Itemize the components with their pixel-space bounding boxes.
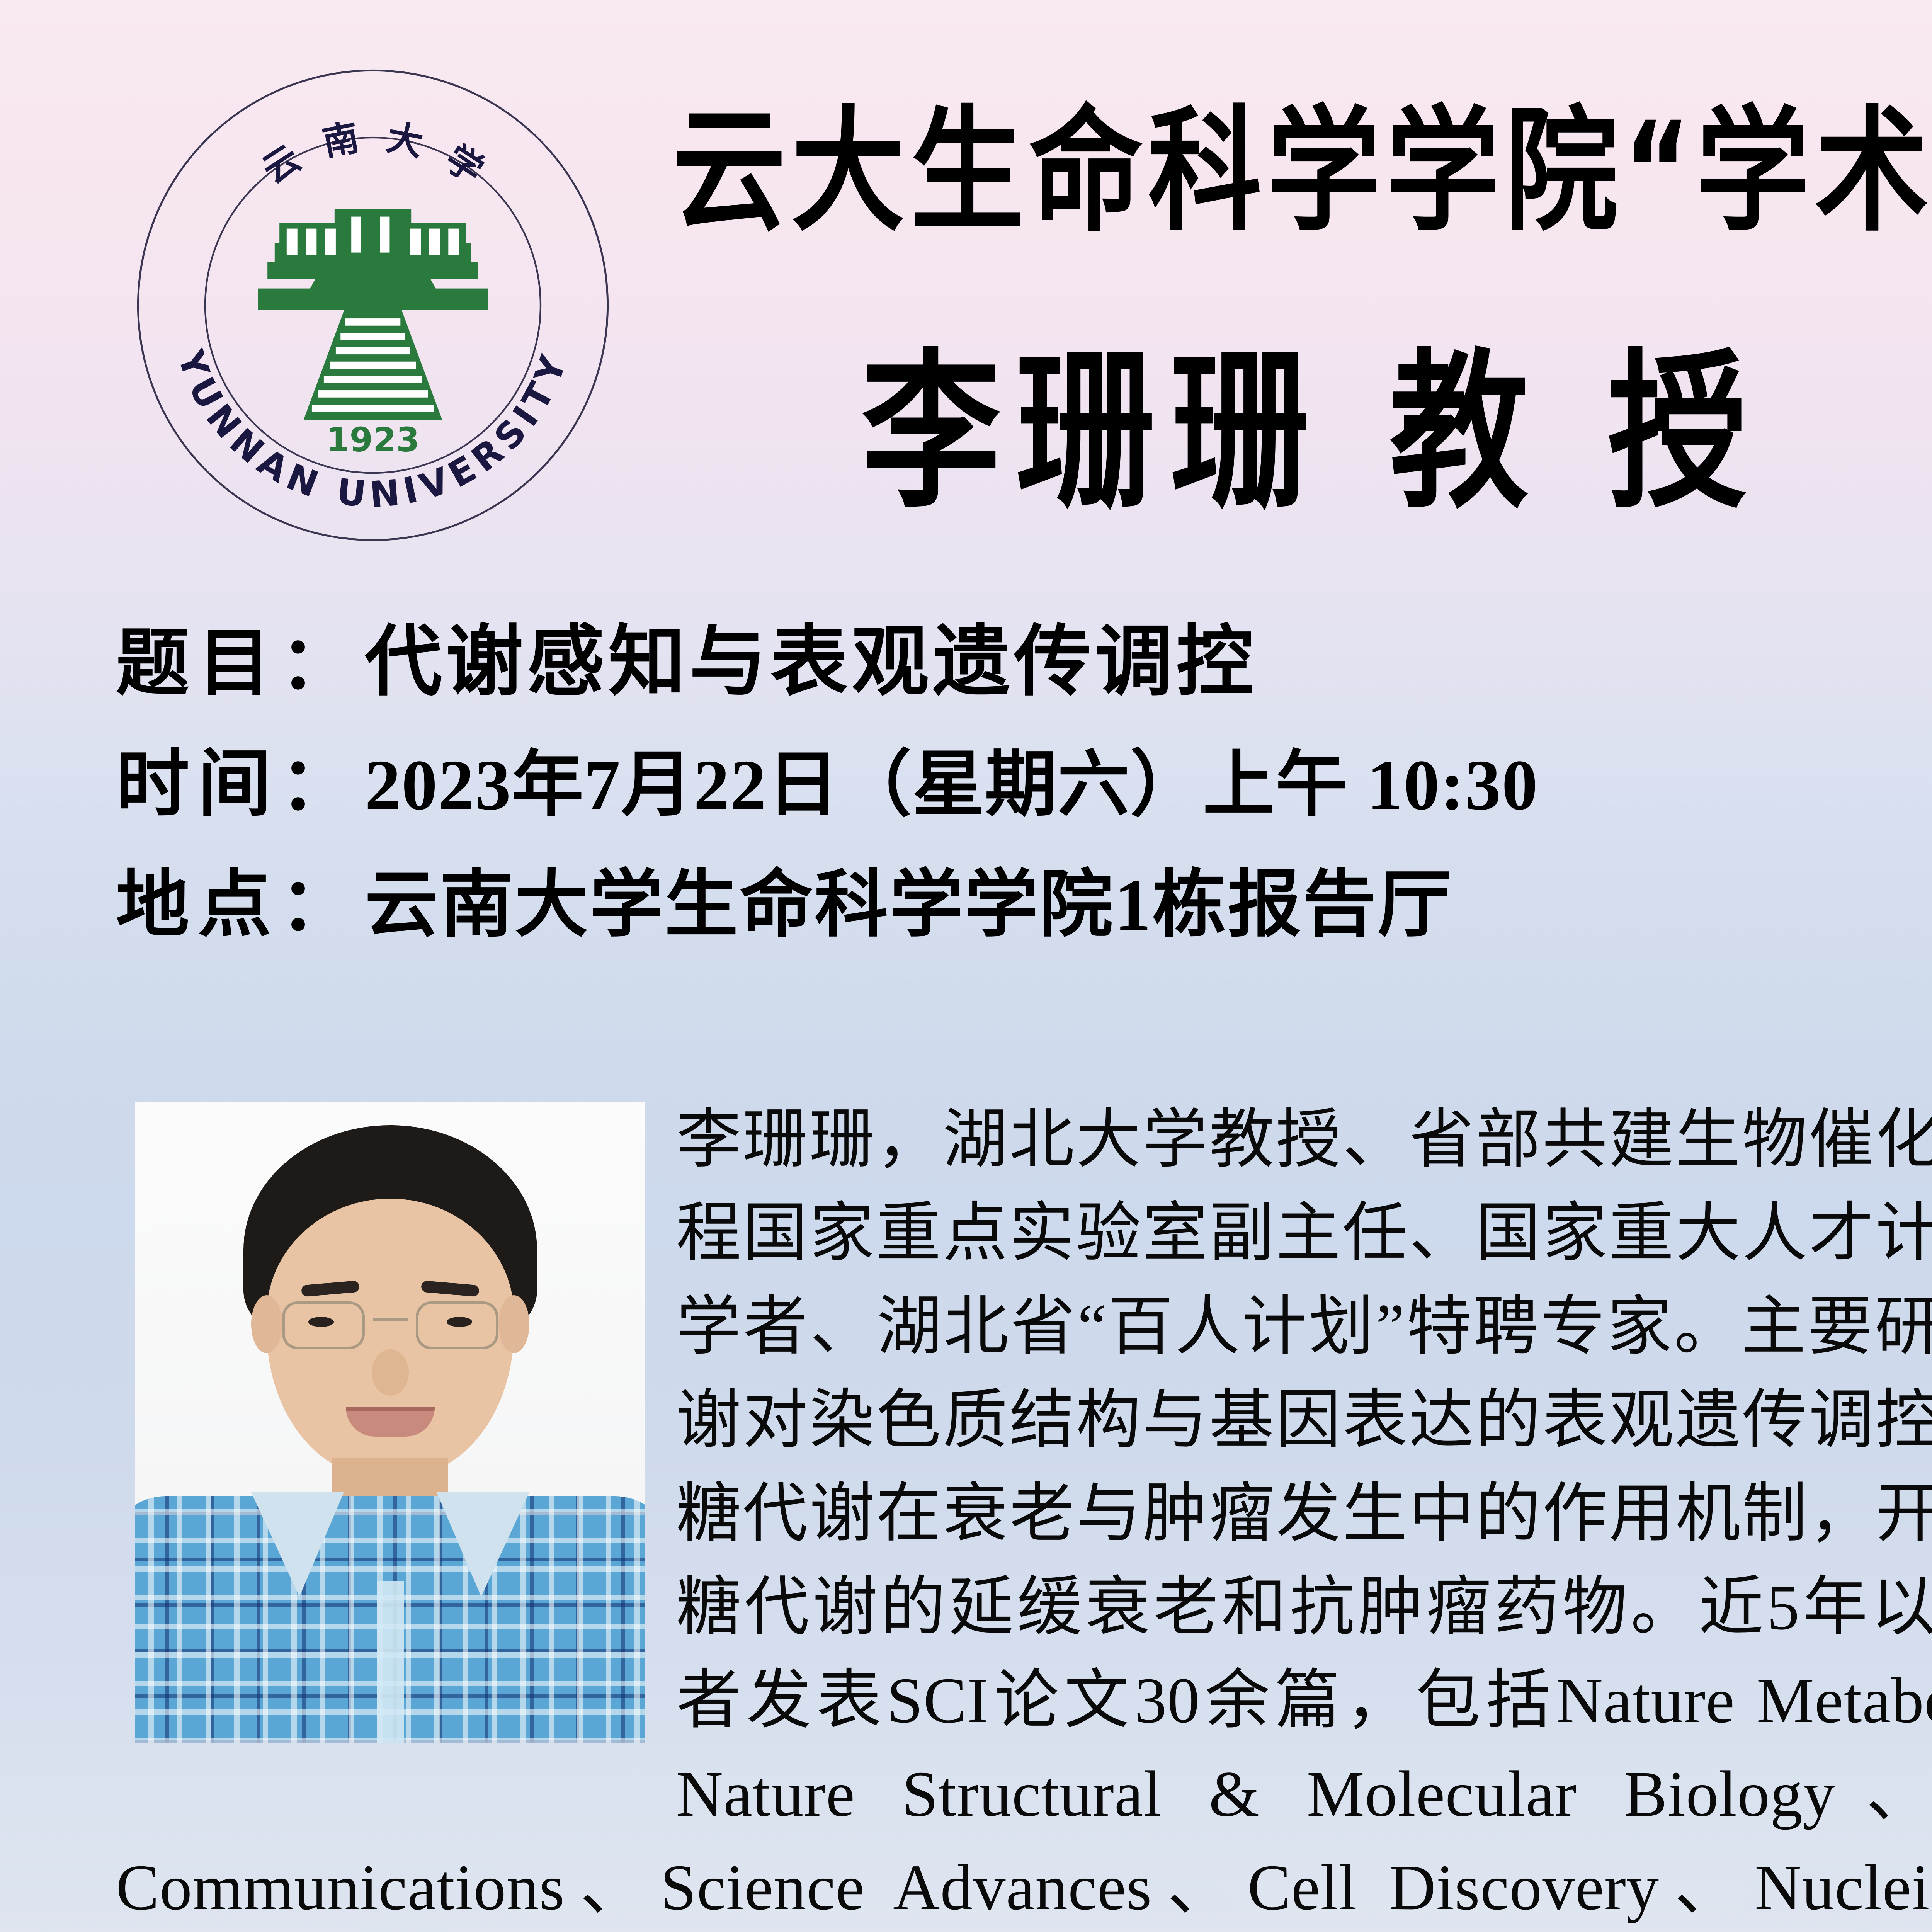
detail-label-time: 时间 <box>116 747 280 824</box>
detail-value-topic: 代谢感知与表观遗传调控 <box>362 622 1257 703</box>
svg-text:大: 大 <box>383 116 427 164</box>
detail-value-venue: 云南大学生命科学学院1栋报告厅 <box>362 867 1452 944</box>
page-title: 云大生命科学学院“学术讲座” <box>672 104 1932 239</box>
detail-separator-time: ： <box>280 747 362 824</box>
detail-separator-venue: ： <box>280 867 362 944</box>
lecture-poster: 1923 云 南 大 学 YUNNAN UNIVERSITY 云大生命科学学院“… <box>0 0 1932 1932</box>
detail-label-topic: 题目 <box>116 626 280 703</box>
svg-text:学: 学 <box>438 137 491 192</box>
speaker-name-heading: 李珊珊 教 授 <box>862 348 1762 517</box>
portrait-eyeglasses <box>282 1301 365 1349</box>
detail-row-topic: 题目 ： 代谢感知与表观遗传调控 <box>116 622 1932 703</box>
detail-label-venue: 地点 <box>116 867 280 944</box>
svg-text:云: 云 <box>255 137 308 192</box>
lecture-details: 题目 ： 代谢感知与表观遗传调控 时间 ： 2023年7月22日（星期六）上午 … <box>116 622 1932 987</box>
detail-row-time: 时间 ： 2023年7月22日（星期六）上午 10:30 <box>116 747 1932 824</box>
svg-text:南: 南 <box>319 116 362 164</box>
detail-value-time: 2023年7月22日（星期六）上午 10:30 <box>362 748 1538 823</box>
speaker-portrait-photo <box>135 1102 645 1743</box>
logo-founded-year: 1923 <box>326 420 420 459</box>
yunnan-university-logo: 1923 云 南 大 学 YUNNAN UNIVERSITY <box>133 66 612 545</box>
speaker-biography-section: 李珊珊，湖北大学教授、省部共建生物催化与酶工程国家重点实验室副主任、国家重大人才… <box>116 1094 1932 1932</box>
detail-row-venue: 地点 ： 云南大学生命科学学院1栋报告厅 <box>116 867 1932 944</box>
detail-separator-topic: ： <box>280 626 362 703</box>
